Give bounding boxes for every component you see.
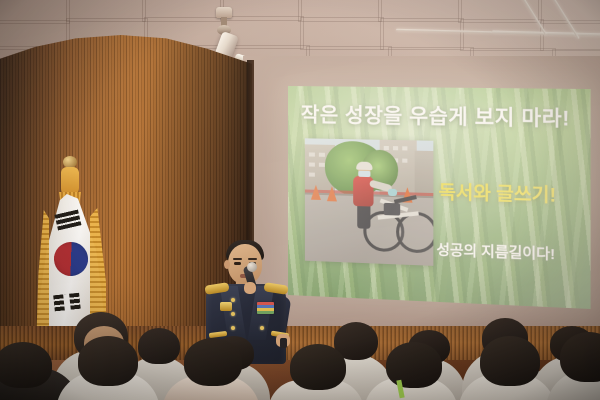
speaker-eyebrow-right	[248, 258, 257, 260]
audience-front-row	[0, 320, 600, 400]
slide-projector-wash	[288, 86, 591, 309]
photo-canvas: 작은 성장을 우습게 보지 마라!	[0, 0, 600, 400]
list-item	[184, 338, 242, 386]
speaker-hand-holding-microphone	[244, 282, 256, 294]
list-item	[480, 336, 540, 386]
list-item	[290, 344, 346, 390]
list-item	[0, 342, 52, 388]
list-item	[386, 342, 442, 388]
speaker-eyebrow-left	[233, 258, 242, 260]
list-item	[78, 336, 138, 386]
projected-slide: 작은 성장을 우습게 보지 마라!	[288, 86, 591, 309]
speaker-eye-left	[234, 262, 241, 265]
microphone-head	[247, 262, 257, 272]
speaker-ear	[224, 260, 230, 269]
list-item	[560, 332, 600, 382]
